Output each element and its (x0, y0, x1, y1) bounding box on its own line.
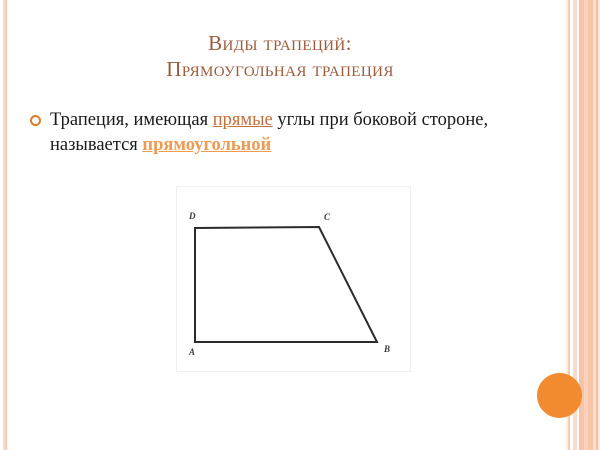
vertex-label-B: B (383, 344, 390, 354)
highlight-pryamougolnoy: прямоугольной (142, 135, 271, 155)
slide-title: Виды трапеций: Прямоугольная трапеция (40, 30, 520, 82)
body-content: Трапеция, имеющая прямые углы при боково… (30, 108, 530, 158)
title-line-2: Прямоугольная трапеция (40, 56, 520, 82)
right-trapezoid-diagram: ABCD (177, 187, 410, 371)
trapezoid-outline (195, 227, 377, 342)
highlight-pryamye: прямые (213, 110, 273, 130)
vertex-label-A: A (188, 347, 195, 357)
title-line-1: Виды трапеций: (40, 30, 520, 56)
bullet-text-part-1: Трапеция, имеющая (50, 110, 213, 130)
slide-canvas: Виды трапеций: Прямоугольная трапеция Тр… (0, 0, 600, 450)
figure-frame: ABCD (176, 186, 411, 372)
circle-outline-bullet-icon (30, 115, 41, 126)
left-decorative-hairline (6, 0, 7, 450)
vertex-label-D: D (188, 211, 196, 221)
vertex-label-C: C (324, 212, 331, 222)
orange-circle-decoration (537, 373, 582, 418)
bullet-text: Трапеция, имеющая прямые углы при боково… (50, 108, 530, 158)
list-item: Трапеция, имеющая прямые углы при боково… (30, 108, 530, 158)
